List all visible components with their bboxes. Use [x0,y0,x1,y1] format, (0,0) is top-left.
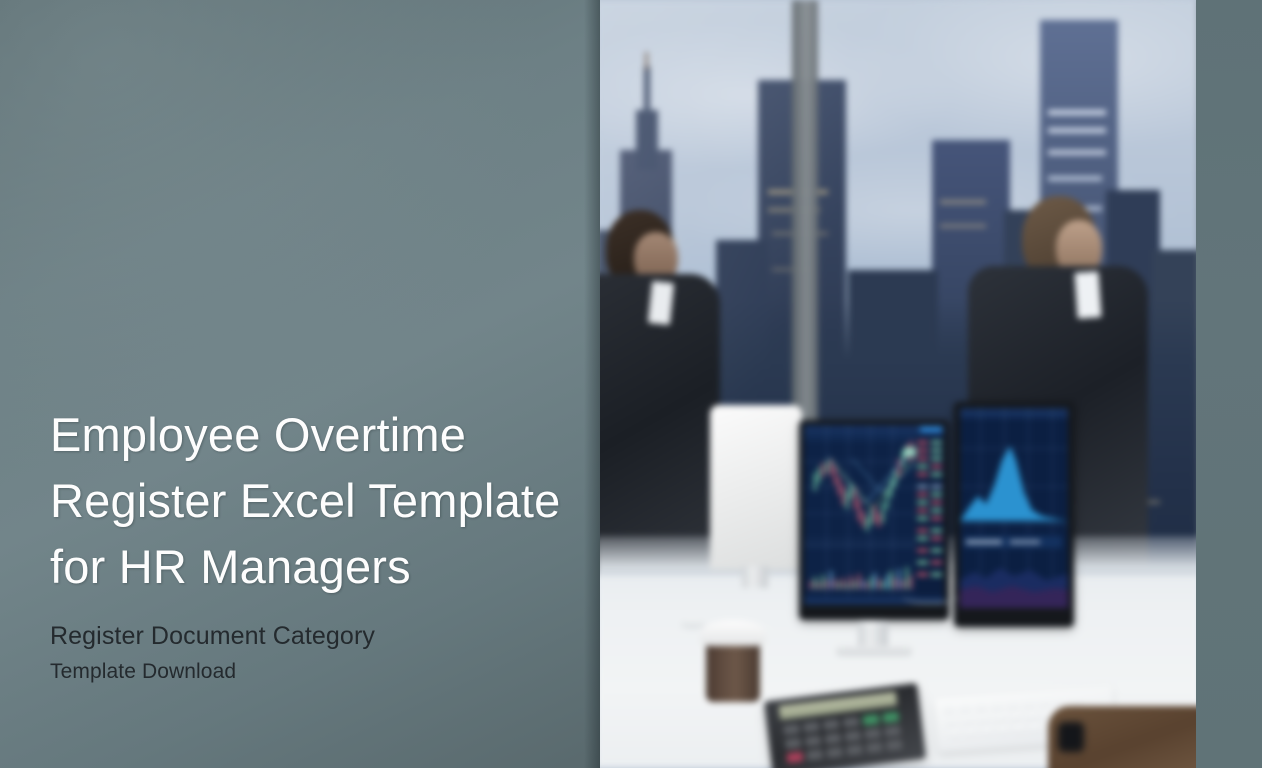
right-side-panel [1196,0,1262,768]
subtitle-category: Register Document Category [50,620,570,652]
panel-edge-shadow [584,0,600,768]
title-line-1: Employee Overtime [50,408,466,461]
page-title: Employee Overtime Register Excel Templat… [50,402,570,600]
title-line-2: Register Excel Template [50,474,561,527]
imac-stand [742,566,768,588]
imac-monitor [710,405,802,570]
slide-canvas: Employee Overtime Register Excel Templat… [0,0,1262,768]
hero-photo [596,0,1200,768]
left-text-panel: Employee Overtime Register Excel Templat… [0,0,600,768]
subtitle-download: Template Download [50,658,570,686]
secondary-monitor [954,402,1074,627]
title-line-3: for HR Managers [50,540,411,593]
monitor-cable [902,582,960,604]
monitor-stand-neck [858,620,888,648]
monitor-stand-foot [836,646,912,656]
